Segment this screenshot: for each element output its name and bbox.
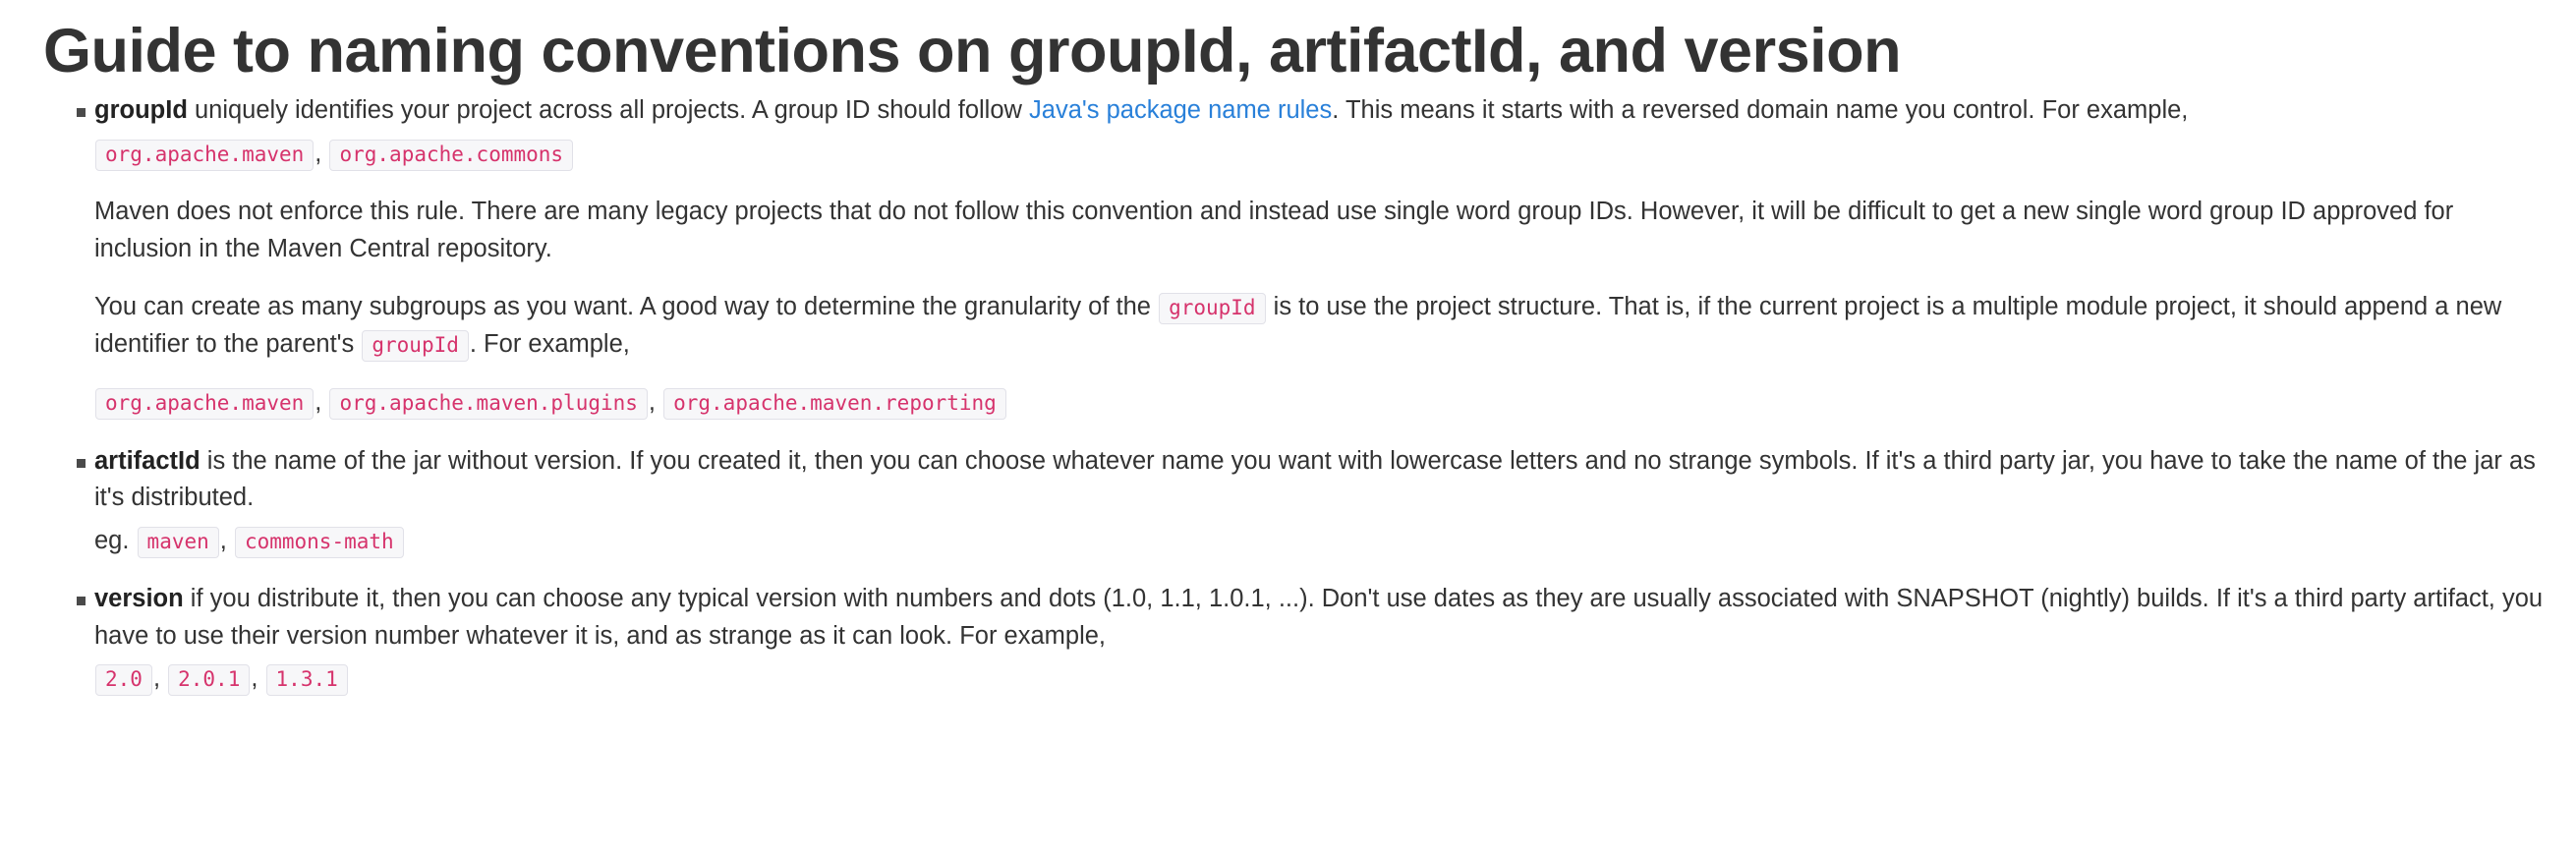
java-package-name-rules-link[interactable]: Java's package name rules: [1029, 96, 1332, 124]
term-artifactid: artifactId: [94, 447, 200, 475]
groupid-example-codes-row-2: org.apache.maven, org.apache.maven.plugi…: [94, 384, 2547, 421]
groupid-subgroups-paragraph: You can create as many subgroups as you …: [94, 289, 2547, 363]
artifactid-example-codes: eg. maven, commons-math: [94, 523, 2547, 559]
subgroups-text-part3: . For example,: [470, 330, 630, 358]
code-chip-org-apache-maven: org.apache.maven: [95, 140, 314, 171]
code-chip-groupid-inline-1: groupId: [1159, 293, 1266, 324]
code-chip-maven: maven: [138, 527, 219, 558]
code-chip-version-1-3-1: 1.3.1: [266, 664, 348, 696]
groupid-enforce-paragraph: Maven does not enforce this rule. There …: [94, 194, 2547, 267]
code-separator: ,: [315, 388, 321, 416]
groupid-example-codes-row-1: org.apache.maven, org.apache.commons: [94, 136, 2547, 172]
code-separator: ,: [153, 664, 160, 692]
list-item-groupid: groupId uniquely identifies your project…: [0, 92, 2547, 421]
term-groupid: groupId: [94, 96, 188, 124]
code-chip-org-apache-maven-plugins: org.apache.maven.plugins: [329, 388, 647, 420]
code-chip-groupid-inline-2: groupId: [362, 330, 469, 362]
version-example-codes: 2.0, 2.0.1, 1.3.1: [94, 660, 2547, 697]
code-chip-commons-math: commons-math: [235, 527, 404, 558]
code-separator: ,: [220, 527, 227, 554]
list-item-version: version if you distribute it, then you c…: [0, 581, 2547, 697]
code-chip-org-apache-commons: org.apache.commons: [329, 140, 573, 171]
code-chip-version-2-0: 2.0: [95, 664, 152, 696]
artifactid-paragraph: artifactId is the name of the jar withou…: [94, 443, 2547, 517]
groupid-intro-pre-text: uniquely identifies your project across …: [188, 96, 1029, 124]
code-separator: ,: [251, 664, 258, 692]
page-title: Guide to naming conventions on groupId, …: [0, 0, 2576, 92]
list-item-artifactid: artifactId is the name of the jar withou…: [0, 443, 2547, 559]
code-separator: ,: [315, 140, 321, 167]
code-chip-org-apache-maven-2: org.apache.maven: [95, 388, 314, 420]
version-body-text: if you distribute it, then you can choos…: [94, 585, 2543, 649]
artifactid-body-text: is the name of the jar without version. …: [94, 447, 2536, 511]
code-chip-version-2-0-1: 2.0.1: [168, 664, 250, 696]
code-chip-org-apache-maven-reporting: org.apache.maven.reporting: [663, 388, 1006, 420]
version-paragraph: version if you distribute it, then you c…: [94, 581, 2547, 655]
eg-label: eg.: [94, 527, 129, 554]
groupid-intro-post-text: . This means it starts with a reversed d…: [1332, 96, 2188, 124]
naming-conventions-list: groupId uniquely identifies your project…: [0, 92, 2576, 697]
groupid-intro-paragraph: groupId uniquely identifies your project…: [94, 92, 2547, 129]
term-version: version: [94, 585, 184, 612]
code-separator: ,: [649, 388, 656, 416]
document-page: Guide to naming conventions on groupId, …: [0, 0, 2576, 698]
subgroups-text-part1: You can create as many subgroups as you …: [94, 293, 1158, 320]
